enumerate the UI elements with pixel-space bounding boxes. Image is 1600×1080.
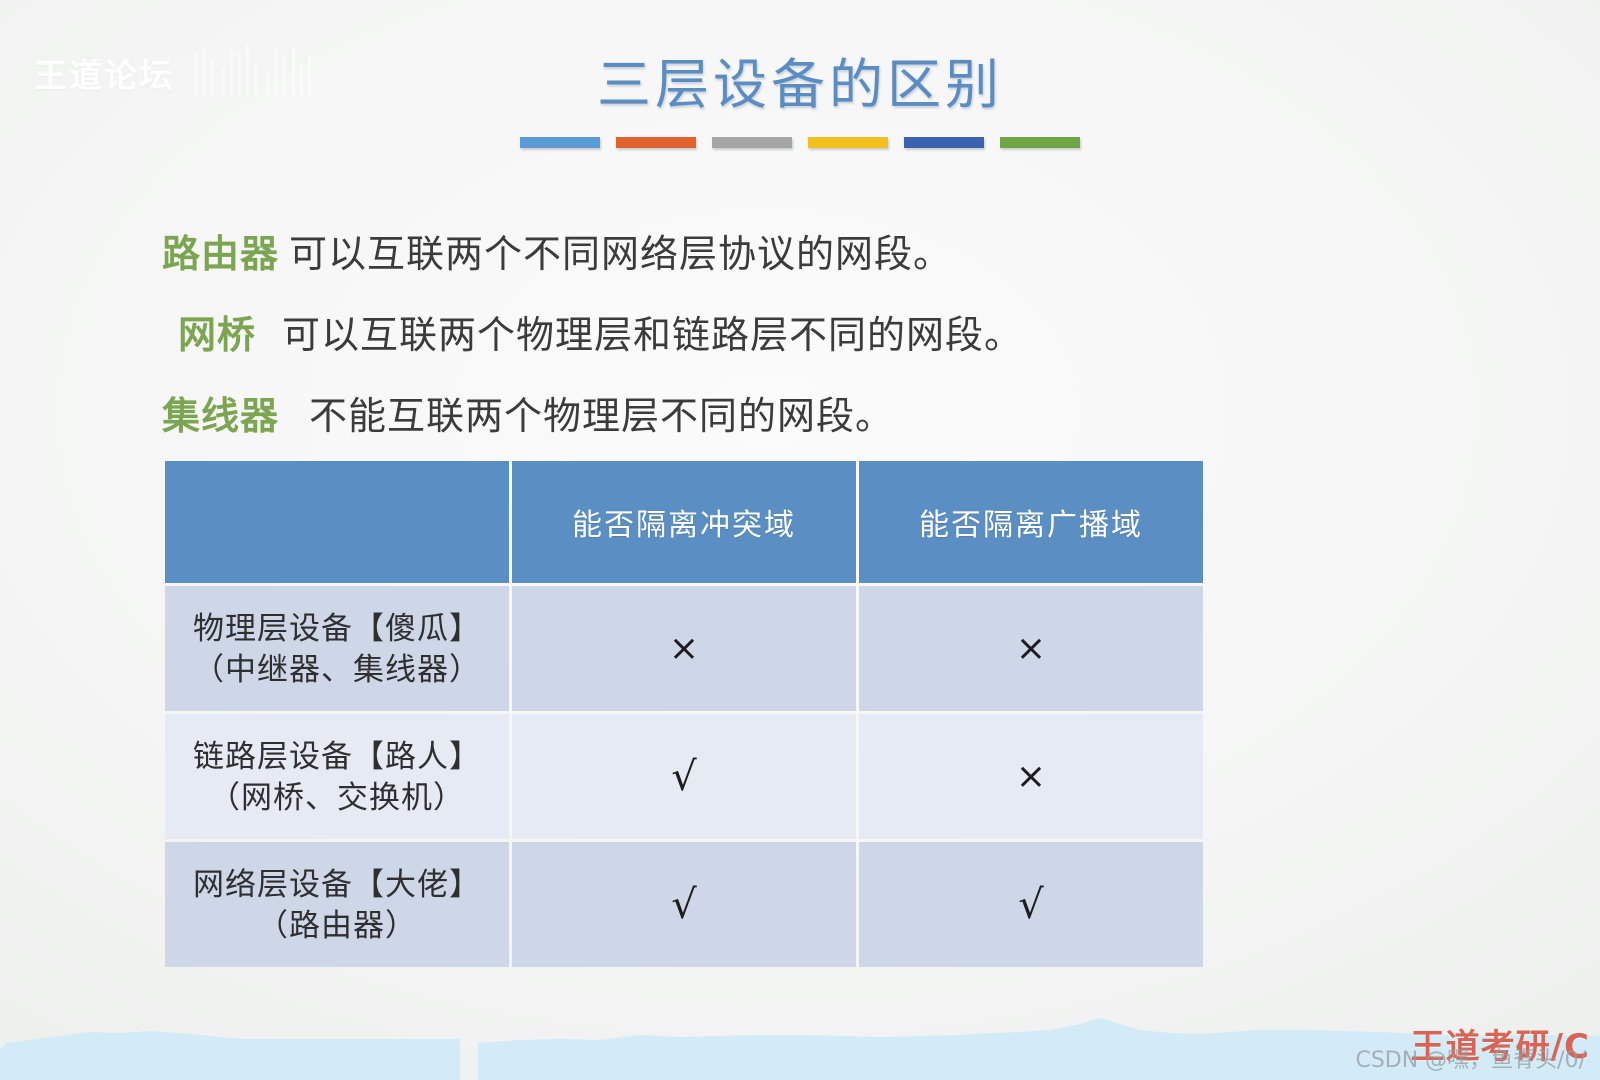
- table-header-row: 能否隔离冲突域 能否隔离广播域: [165, 461, 1203, 583]
- page-title: 三层设备的区别: [0, 52, 1600, 118]
- accent-bar-blue: [520, 137, 600, 148]
- bullet-term-router: 路由器: [162, 228, 279, 280]
- table-header-collision: 能否隔离冲突域: [512, 461, 856, 583]
- check-icon: √: [671, 754, 697, 800]
- bullet-list: 路由器 可以互联两个不同网络层协议的网段。 网桥 可以互联两个物理层和链路层不同…: [162, 228, 1342, 471]
- title-block: 三层设备的区别: [0, 52, 1600, 148]
- device-name-line1: 物理层设备【傻瓜】: [165, 608, 509, 649]
- accent-bar-green: [1000, 137, 1080, 148]
- bullet-term-bridge: 网桥: [178, 309, 256, 361]
- table-header: 能否隔离冲突域 能否隔离广播域: [165, 461, 1203, 583]
- check-icon: √: [1018, 882, 1044, 928]
- table-row: 网络层设备【大佬】 （路由器） √ √: [165, 842, 1203, 967]
- device-name-line2: （网桥、交换机）: [165, 777, 509, 818]
- watermark-csdn: CSDN @嘿，鱼脊头/0/: [1355, 1042, 1586, 1074]
- table-cell-collision-datalink: √: [512, 714, 856, 839]
- title-accent-bars: [0, 137, 1600, 148]
- bullet-term-hub: 集线器: [162, 390, 279, 442]
- watermark-brand: 王道考研/C: [1411, 1019, 1590, 1068]
- check-icon: √: [671, 882, 697, 928]
- accent-bar-orange: [616, 137, 696, 148]
- table-cell-broadcast-physical: ×: [859, 586, 1203, 711]
- device-name-line1: 链路层设备【路人】: [165, 736, 509, 777]
- table-row: 链路层设备【路人】 （网桥、交换机） √ ×: [165, 714, 1203, 839]
- table-cell-broadcast-datalink: ×: [859, 714, 1203, 839]
- cross-icon: ×: [1016, 628, 1046, 669]
- table-cell-collision-physical: ×: [512, 586, 856, 711]
- accent-bar-gray: [712, 137, 792, 148]
- table-header-blank: [165, 461, 509, 583]
- table-row: 物理层设备【傻瓜】 （中继器、集线器） × ×: [165, 586, 1203, 711]
- comparison-table: 能否隔离冲突域 能否隔离广播域 物理层设备【傻瓜】 （中继器、集线器） × ×: [162, 458, 1206, 970]
- table-cell-device-physical: 物理层设备【傻瓜】 （中继器、集线器）: [165, 586, 509, 711]
- table-body: 物理层设备【傻瓜】 （中继器、集线器） × × 链路层设备【路人】 （网桥、交换…: [165, 586, 1203, 967]
- bullet-item-hub: 集线器 不能互联两个物理层不同的网段。: [162, 390, 1342, 443]
- bullet-desc-bridge: 可以互联两个物理层和链路层不同的网段。: [282, 310, 1023, 362]
- wave-decoration-icon: [0, 1010, 1600, 1080]
- accent-bar-yellow: [808, 137, 888, 148]
- bullet-desc-hub: 不能互联两个物理层不同的网段。: [309, 391, 894, 443]
- slide-canvas: 王道论坛 三层设备的区别: [0, 0, 1600, 1080]
- bullet-item-bridge: 网桥 可以互联两个物理层和链路层不同的网段。: [162, 309, 1342, 362]
- cross-icon: ×: [1016, 756, 1046, 797]
- table-cell-device-network: 网络层设备【大佬】 （路由器）: [165, 842, 509, 967]
- device-name-line2: （路由器）: [165, 905, 509, 946]
- device-name-line2: （中继器、集线器）: [165, 649, 509, 690]
- table-header-broadcast: 能否隔离广播域: [859, 461, 1203, 583]
- table-cell-collision-network: √: [512, 842, 856, 967]
- bullet-desc-router: 可以互联两个不同网络层协议的网段。: [289, 229, 952, 281]
- table-cell-device-datalink: 链路层设备【路人】 （网桥、交换机）: [165, 714, 509, 839]
- cross-icon: ×: [669, 628, 699, 669]
- device-name-line1: 网络层设备【大佬】: [165, 864, 509, 905]
- bullet-item-router: 路由器 可以互联两个不同网络层协议的网段。: [162, 228, 1342, 281]
- accent-bar-navy: [904, 137, 984, 148]
- table-cell-broadcast-network: √: [859, 842, 1203, 967]
